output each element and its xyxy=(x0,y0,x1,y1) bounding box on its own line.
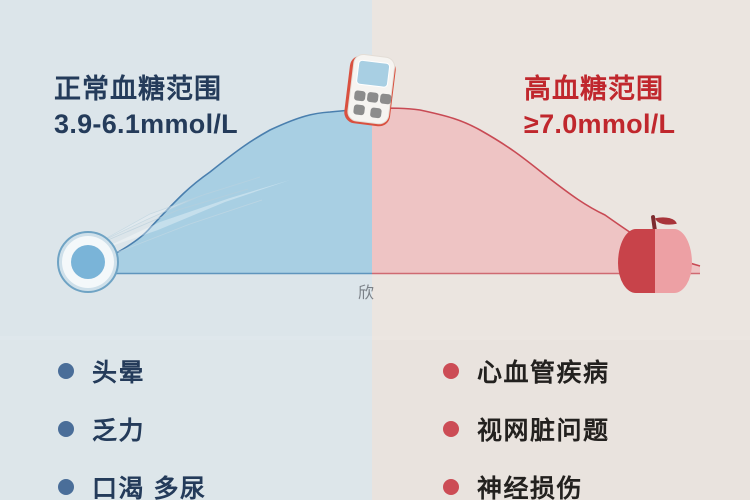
apple-body-right xyxy=(655,229,692,293)
glucose-meter-icon xyxy=(340,51,401,131)
normal-range-heading: 正常血糖范围 3.9-6.1mmol/L xyxy=(54,72,238,141)
glucose-meter-button xyxy=(380,93,392,104)
apple-icon xyxy=(618,215,692,293)
bullet-dot-blue-icon xyxy=(58,421,74,437)
list-item: 神经损伤 xyxy=(443,464,610,500)
high-complication-list: 心血管疾病 视网脏问题 神经损伤 xyxy=(443,348,610,500)
list-item: 乏力 xyxy=(58,406,206,452)
normal-range-title: 正常血糖范围 xyxy=(54,72,238,107)
target-ring-inner xyxy=(71,245,105,279)
normal-range-value: 3.9-6.1mmol/L xyxy=(54,107,238,142)
glucose-meter-button xyxy=(354,90,366,101)
glucose-meter-screen xyxy=(356,59,391,88)
normal-symptom-list: 头晕 乏力 口渴 多尿 xyxy=(58,348,206,500)
list-item-label: 口渴 多尿 xyxy=(92,469,206,500)
high-range-title: 高血糖范围 xyxy=(524,72,675,107)
infographic-canvas: 正常血糖范围 3.9-6.1mmol/L 高血糖范围 ≥7.0mmol/L 欣 … xyxy=(0,0,750,500)
blood-drop-target-icon xyxy=(57,231,119,293)
high-range-value: ≥7.0mmol/L xyxy=(524,107,675,142)
list-item: 视网脏问题 xyxy=(443,406,610,452)
bullet-dot-blue-icon xyxy=(58,479,74,495)
bullet-dot-blue-icon xyxy=(58,363,74,379)
glucose-meter-button xyxy=(353,104,365,115)
list-item-label: 视网脏问题 xyxy=(477,411,610,447)
list-item: 口渴 多尿 xyxy=(58,464,206,500)
apple-body-left xyxy=(618,229,655,293)
glucose-meter-button xyxy=(370,107,382,118)
high-range-heading: 高血糖范围 ≥7.0mmol/L xyxy=(524,72,675,141)
glucose-meter-button xyxy=(367,92,379,103)
list-item-label: 乏力 xyxy=(92,411,145,447)
apple-leaf xyxy=(655,214,677,228)
list-item: 心血管疾病 xyxy=(443,348,610,394)
bullet-dot-red-icon xyxy=(443,421,459,437)
list-item-label: 神经损伤 xyxy=(477,469,583,500)
bullet-dot-red-icon xyxy=(443,479,459,495)
list-item-label: 头晕 xyxy=(92,353,145,389)
bullet-dot-red-icon xyxy=(443,363,459,379)
watermark-glyph: 欣 xyxy=(358,279,374,303)
list-item-label: 心血管疾病 xyxy=(477,353,610,389)
list-item: 头晕 xyxy=(58,348,206,394)
